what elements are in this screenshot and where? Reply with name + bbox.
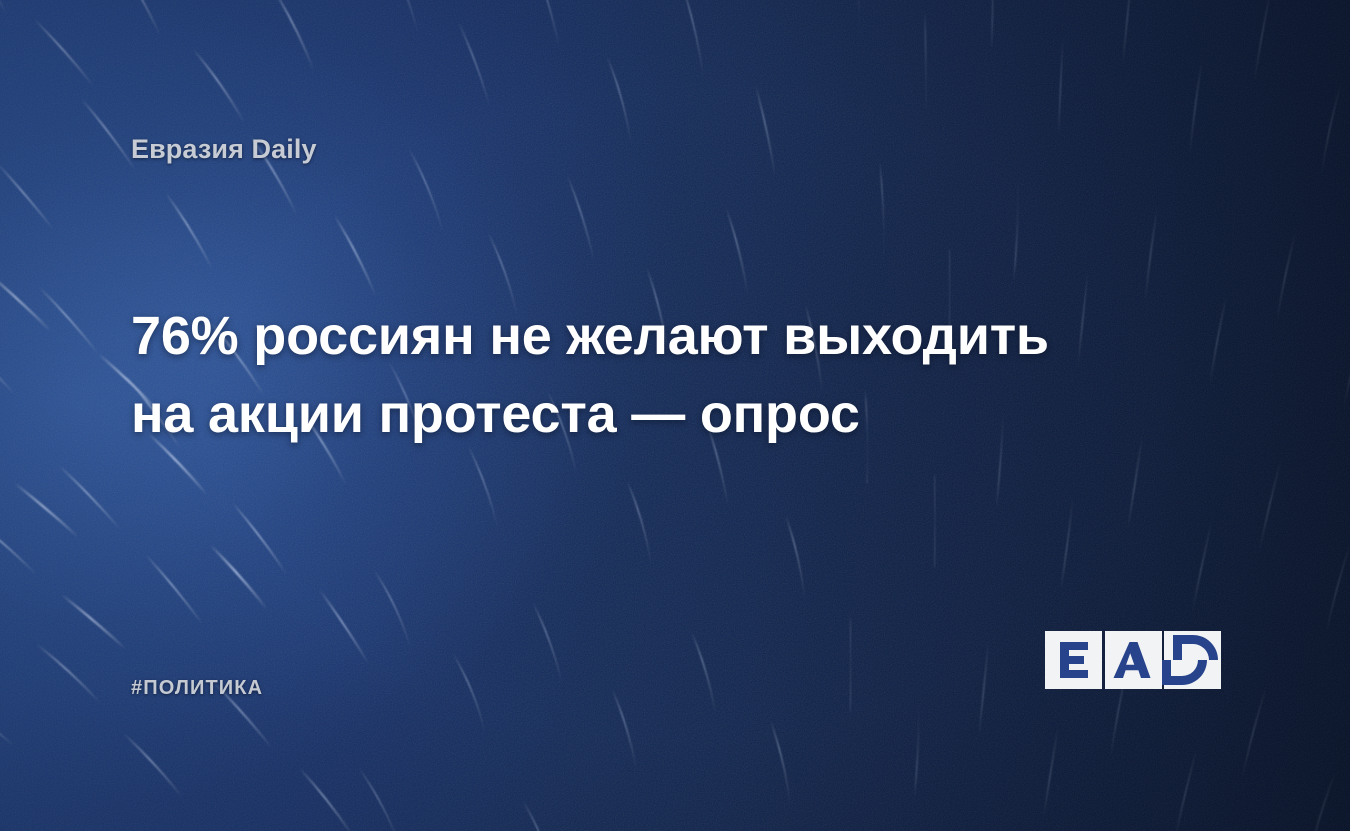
social-share-card: Евразия Daily 76% россиян не желают выхо… xyxy=(0,0,1350,831)
eadaily-logo xyxy=(1045,631,1221,689)
card-content: Евразия Daily 76% россиян не желают выхо… xyxy=(0,0,1350,831)
category-tag: #ПОЛИТИКА xyxy=(131,678,263,698)
brand-name: Евразия Daily xyxy=(131,136,317,163)
headline: 76% россиян не желают выходить на акции … xyxy=(131,298,1091,454)
